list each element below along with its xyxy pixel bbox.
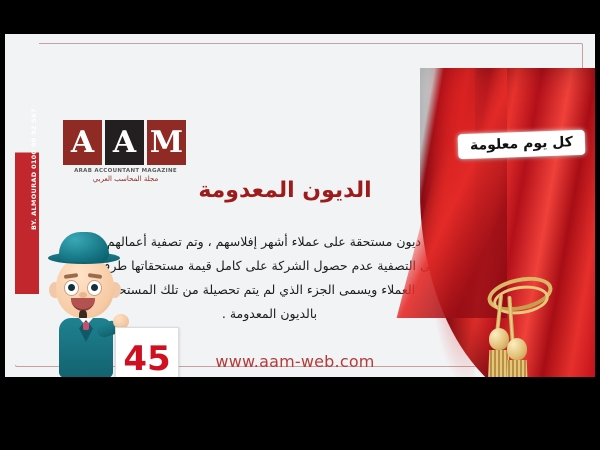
red-curtain (390, 68, 595, 377)
logo-subtitle-en: ARAB ACCOUNTANT MAGAZINE (63, 168, 188, 174)
logo-tiles: A A M (63, 120, 188, 165)
letterbox-top-bar (0, 0, 600, 34)
website-url[interactable]: www.aam-web.com (155, 352, 435, 371)
number-card: 45 (115, 327, 179, 377)
number-card-value: 45 (123, 342, 170, 376)
info-card: BY. ALMOURAD 0100 90 92 567 A A M ARAB A… (5, 34, 595, 377)
letterbox-bottom-bar (0, 377, 600, 450)
aam-logo: A A M ARAB ACCOUNTANT MAGAZINE مجلة المح… (63, 120, 188, 183)
mascot-pupil-left (68, 284, 75, 291)
tassel-right (507, 338, 527, 377)
tassel-cord-2 (507, 296, 514, 342)
logo-letter-1: A (63, 120, 102, 165)
tassel-cord-1 (495, 294, 503, 336)
logo-letter-3: M (147, 120, 186, 165)
body-line-2: على التصفية عدم حصول الشركة على كامل قيم… (97, 254, 442, 278)
body-paragraph: هي ديون مستحقة على عملاء أشهر إفلاسهم ، … (97, 230, 442, 326)
mascot-hat-top (59, 232, 109, 262)
daily-info-badge-label: كل يوم معلومة (470, 134, 573, 154)
body-line-3: العملاء ويسمى الجزء الذي لم يتم تحصيلة م… (97, 278, 442, 302)
logo-letter-2: A (105, 120, 144, 165)
body-line-4: بالديون المعدومة . (97, 302, 442, 326)
tassel-head (489, 328, 509, 350)
mascot-pupil-right (91, 284, 98, 291)
curtain-drape (420, 68, 595, 377)
curtain-edge-highlight (385, 68, 475, 377)
daily-info-badge: كل يوم معلومة (458, 130, 586, 159)
body-line-1: هي ديون مستحقة على عملاء أشهر إفلاسهم ، … (97, 230, 442, 254)
video-frame: BY. ALMOURAD 0100 90 92 567 A A M ARAB A… (0, 0, 600, 450)
tieback-rope-outer (484, 271, 555, 316)
credit-text: BY. ALMOURAD 0100 90 92 567 (30, 110, 38, 230)
mascot-character: 45 (35, 230, 145, 377)
tieback-rope-inner (491, 282, 550, 318)
tassel-left (489, 328, 509, 377)
tassel-skirt (506, 360, 528, 377)
tassel-head (507, 338, 527, 360)
page-title: الديون المعدومة (5, 178, 565, 203)
mascot-tie (83, 322, 89, 330)
tassel-skirt (488, 350, 510, 377)
curtain-tieback (483, 276, 553, 346)
